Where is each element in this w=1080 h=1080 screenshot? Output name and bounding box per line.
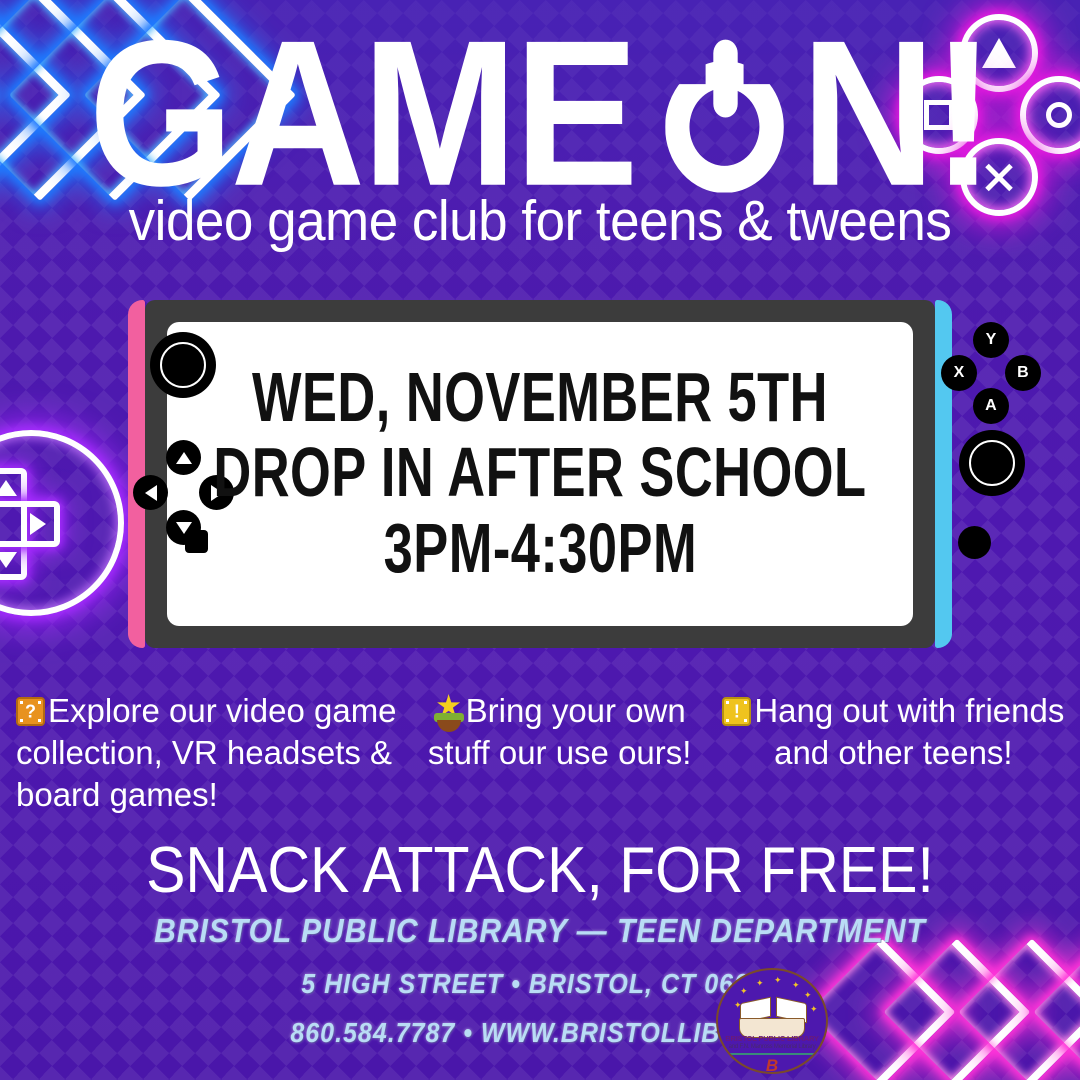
- left-analog-stick-icon: [150, 332, 216, 398]
- logo-subname: and F.N. Manross Memorial Library: [718, 1044, 826, 1050]
- dpad-left-button: [133, 475, 168, 510]
- feature-text: Bring your own stuff our use ours!: [428, 692, 692, 771]
- question-block-icon: ?: [16, 697, 45, 726]
- a-button: A: [973, 388, 1009, 424]
- capture-button-icon: [185, 530, 208, 553]
- library-logo: ✦ ✦ ✦ ✦ ✦ ✦ ✦ BRISTOL PUBLIC LIBRARY and…: [716, 968, 828, 1074]
- switch-console-graphic: WED, NOVEMBER 5TH DROP IN AFTER SCHOOL 3…: [128, 300, 952, 648]
- console-body: WED, NOVEMBER 5TH DROP IN AFTER SCHOOL 3…: [145, 300, 935, 648]
- feature-item: ?Explore our video game collection, VR h…: [10, 690, 403, 817]
- exclamation-block-icon: !: [722, 697, 751, 726]
- poster-header: GAME N! video game club for teens & twee…: [0, 0, 1080, 252]
- feature-text: Explore our video game collection, VR he…: [16, 692, 397, 813]
- feature-text: Hang out with friends and other teens!: [754, 692, 1064, 771]
- console-screen: WED, NOVEMBER 5TH DROP IN AFTER SCHOOL 3…: [167, 322, 913, 626]
- b-button: B: [1005, 355, 1041, 391]
- home-button-icon: [958, 526, 991, 559]
- footer-organization: BRISTOL PUBLIC LIBRARY — TEEN DEPARTMENT: [0, 913, 1080, 951]
- left-joycon: [128, 300, 145, 648]
- x-button: X: [941, 355, 977, 391]
- logo-name: BRISTOL PUBLIC LIBRARY: [718, 1034, 826, 1043]
- feature-item: Bring your own stuff our use ours!: [403, 690, 717, 817]
- title-word-on: N!: [801, 16, 992, 213]
- event-time-line: 3PM-4:30PM: [383, 503, 697, 595]
- page-subtitle: video game club for teens & tweens: [0, 189, 1080, 254]
- poster-canvas: GAME N! video game club for teens & twee…: [0, 0, 1080, 1080]
- y-button: Y: [973, 322, 1009, 358]
- features-row: ?Explore our video game collection, VR h…: [0, 690, 1080, 817]
- page-title: GAME N!: [0, 16, 1080, 213]
- power-icon: [661, 39, 790, 190]
- poster-footer: BRISTOL PUBLIC LIBRARY — TEEN DEPARTMENT…: [0, 915, 1080, 1048]
- logo-monogram: B: [718, 1056, 826, 1074]
- right-analog-stick-icon: [959, 430, 1025, 496]
- footer-contact: 860.584.7787 • WWW.BRISTOLLIB.COM: [0, 1017, 1080, 1049]
- right-joycon: Y X B A: [935, 300, 952, 648]
- feature-item: !Hang out with friends and other teens!: [717, 690, 1070, 817]
- footer-address: 5 HIGH STREET • BRISTOL, CT 06010: [0, 968, 1080, 1000]
- star-acorn-icon: [434, 694, 464, 732]
- dpad-up-button: [166, 440, 201, 475]
- title-word-game: GAME: [89, 16, 636, 213]
- snack-headline: SNACK ATTACK, FOR FREE!: [0, 833, 1080, 908]
